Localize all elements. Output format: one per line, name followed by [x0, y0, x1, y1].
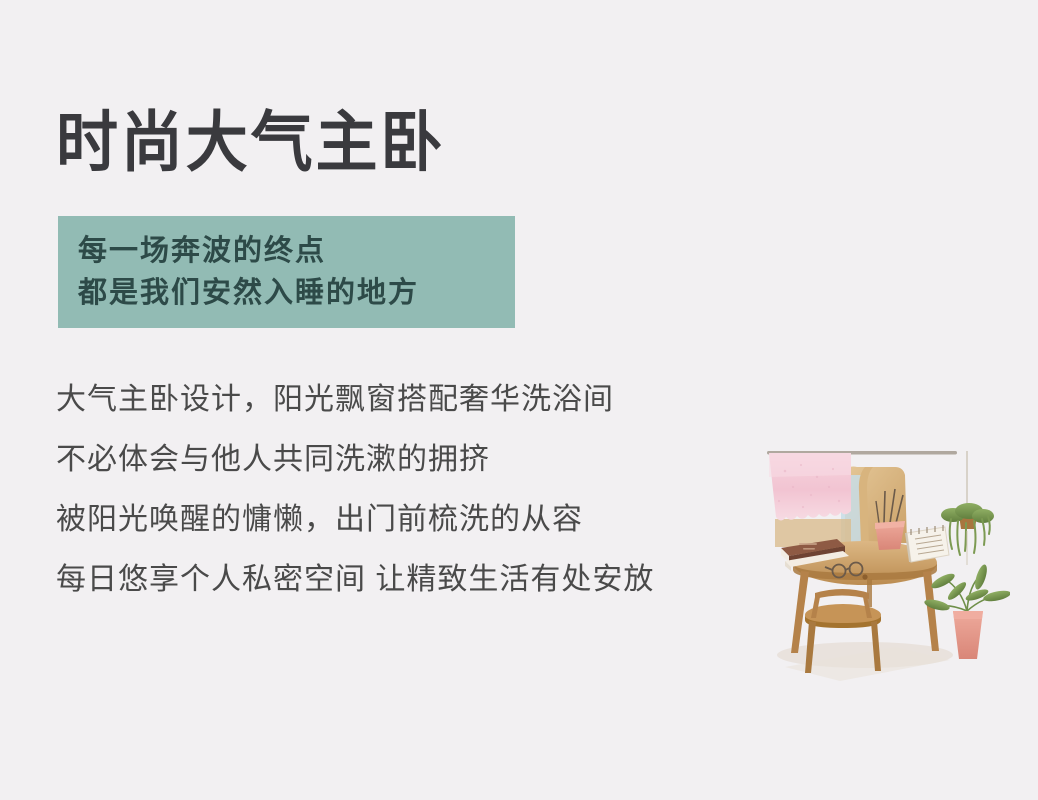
body-line-3: 被阳光唤醒的慵懒，出门前梳洗的从容 — [56, 490, 756, 550]
vanity-illustration — [745, 415, 1010, 690]
hanging-trailing-plant — [941, 451, 994, 565]
tagline-line-1: 每一场奔波的终点 — [78, 230, 515, 272]
poster-canvas: 时尚大气主卧 每一场奔波的终点 都是我们安然入睡的地方 大气主卧设计，阳光飘窗搭… — [0, 0, 1038, 800]
body-line-2: 不必体会与他人共同洗漱的拥挤 — [56, 430, 756, 490]
tagline-highlight-block: 每一场奔波的终点 都是我们安然入睡的地方 — [58, 216, 515, 328]
body-copy: 大气主卧设计，阳光飘窗搭配奢华洗浴间 不必体会与他人共同洗漱的拥挤 被阳光唤醒的… — [56, 370, 756, 610]
pink-lace-cloth — [769, 453, 851, 521]
tagline-line-2: 都是我们安然入睡的地方 — [78, 272, 515, 314]
open-notebook — [905, 525, 949, 562]
body-line-4: 每日悠享个人私密空间 让精致生活有处安放 — [56, 550, 756, 610]
floor-shadow-group — [777, 642, 953, 681]
body-line-1: 大气主卧设计，阳光飘窗搭配奢华洗浴间 — [56, 370, 756, 430]
page-title: 时尚大气主卧 — [56, 106, 445, 182]
